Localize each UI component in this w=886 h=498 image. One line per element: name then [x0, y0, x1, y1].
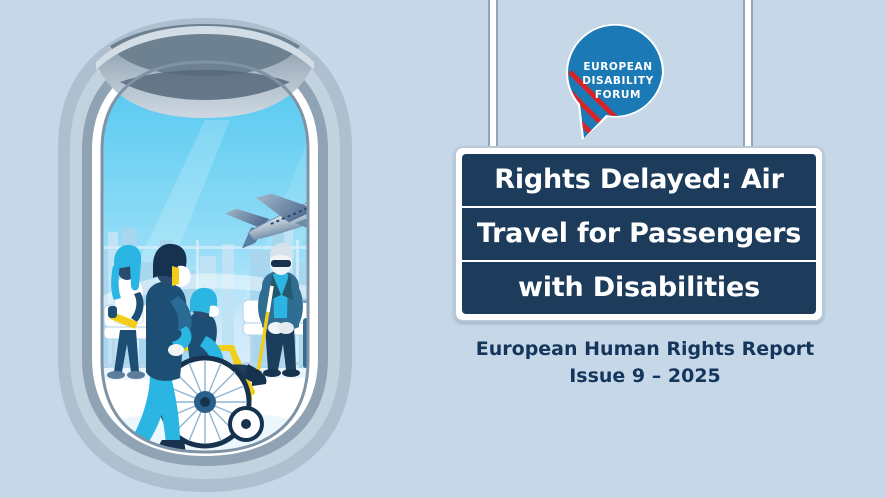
- logo-line-2: DISABILITY: [582, 75, 654, 87]
- window-illustration-svg: [0, 0, 460, 498]
- sign-post-right: [743, 0, 753, 150]
- hand: [168, 344, 184, 356]
- title-sign: Rights Delayed: Air Travel for Passenger…: [454, 146, 824, 322]
- title-line-1: Rights Delayed: Air: [462, 154, 816, 206]
- subtitle-line-1: European Human Rights Report: [440, 336, 850, 363]
- sign-area: EUROPEAN DISABILITY FORUM Rights Delayed…: [440, 0, 886, 498]
- title-sign-inner: Rights Delayed: Air Travel for Passenger…: [461, 153, 817, 315]
- subtitle-block: European Human Rights Report Issue 9 – 2…: [440, 336, 850, 390]
- edf-logo: EUROPEAN DISABILITY FORUM: [560, 22, 670, 140]
- mask-strap: [172, 266, 179, 286]
- title-line-2: Travel for Passengers: [462, 206, 816, 260]
- airplane-window-illustration: [0, 0, 460, 498]
- sign-post-left: [488, 0, 498, 150]
- logo-line-1: EUROPEAN: [583, 61, 652, 73]
- sunglasses: [271, 260, 291, 267]
- subtitle-line-2: Issue 9 – 2025: [440, 363, 850, 390]
- title-line-3: with Disabilities: [462, 260, 816, 314]
- edf-logo-svg: EUROPEAN DISABILITY FORUM: [560, 22, 670, 140]
- report-cover: EUROPEAN DISABILITY FORUM Rights Delayed…: [0, 0, 886, 498]
- wheelchair-caster-wheel: [230, 408, 262, 440]
- logo-line-3: FORUM: [595, 89, 641, 101]
